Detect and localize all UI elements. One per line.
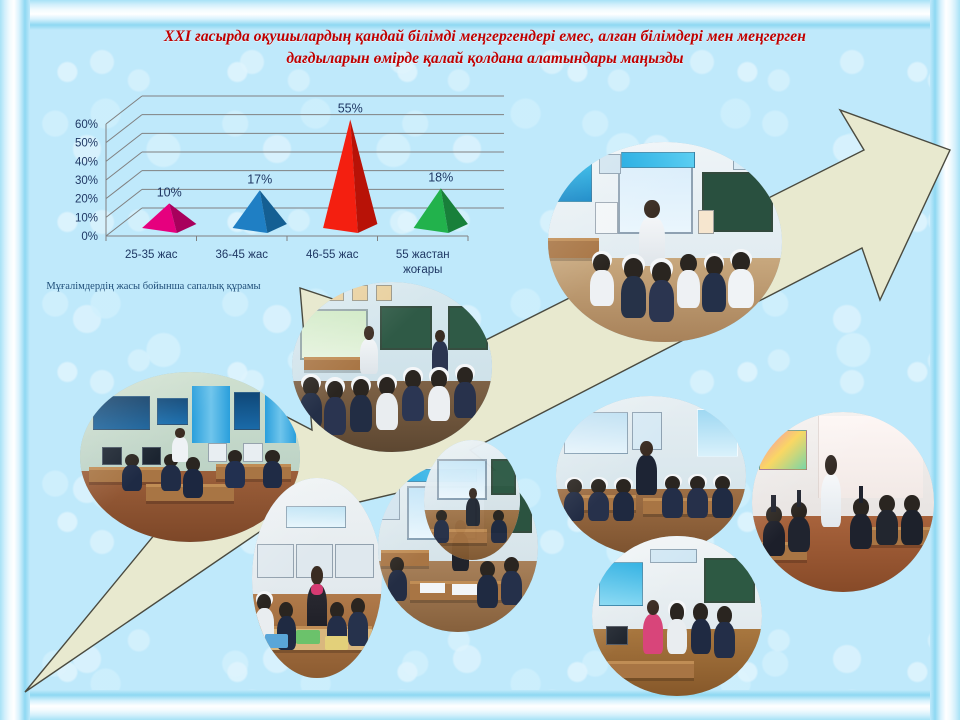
age-composition-chart: 0%10%20%30%40%50%60%10%25-35 жас17%36-45… <box>34 82 504 282</box>
svg-text:17%: 17% <box>247 172 272 186</box>
photo-teacher-interactive-board <box>548 142 782 342</box>
svg-text:40%: 40% <box>75 156 98 168</box>
svg-text:20%: 20% <box>75 194 98 206</box>
photo-library-reading <box>252 478 382 678</box>
svg-text:10%: 10% <box>157 185 182 199</box>
chart-caption: Мұғалімдердің жасы бойынша сапалық құрам… <box>46 280 261 294</box>
page-title-line-2: дағдыларын өмірде қалай қолдана алатында… <box>70 48 900 70</box>
photo-group-work <box>592 536 762 696</box>
svg-text:жоғары: жоғары <box>403 264 442 276</box>
svg-text:0%: 0% <box>81 231 98 243</box>
photo-classroom-green-board <box>292 282 492 452</box>
svg-text:50%: 50% <box>75 138 98 150</box>
svg-text:46-55 жас: 46-55 жас <box>306 249 359 261</box>
photo-students-raising-hands <box>752 412 934 592</box>
slide-frame-left <box>0 0 30 720</box>
photo-lesson-discussion <box>424 440 520 560</box>
presentation-slide: XXI ғасырда оқушылардың қандай білімді м… <box>0 0 960 720</box>
svg-text:10%: 10% <box>75 212 98 224</box>
svg-text:30%: 30% <box>75 175 98 187</box>
svg-text:60%: 60% <box>75 119 98 131</box>
slide-frame-bottom <box>0 690 960 720</box>
svg-text:55%: 55% <box>338 101 363 115</box>
svg-text:36-45 жас: 36-45 жас <box>216 249 269 261</box>
photo-classroom-presentation <box>556 396 746 556</box>
chart-canvas: 0%10%20%30%40%50%60%10%25-35 жас17%36-45… <box>34 82 504 282</box>
page-title: XXI ғасырда оқушылардың қандай білімді м… <box>70 26 900 71</box>
slide-frame-right <box>930 0 960 720</box>
page-title-line-1: XXI ғасырда оқушылардың қандай білімді м… <box>70 26 900 48</box>
svg-text:55 жастан: 55 жастан <box>396 249 450 261</box>
svg-text:25-35 жас: 25-35 жас <box>125 249 178 261</box>
svg-text:18%: 18% <box>428 170 453 184</box>
